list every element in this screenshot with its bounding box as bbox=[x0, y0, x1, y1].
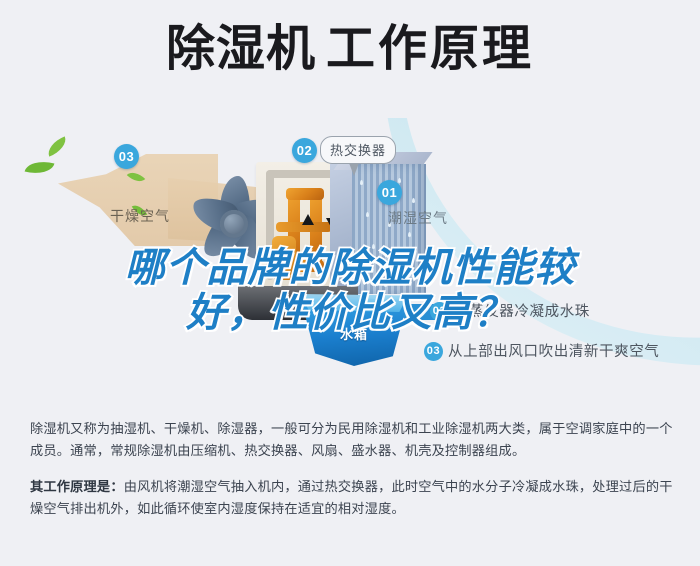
dehumidifier-diagram: 水箱 03 02 01 干燥空气 潮湿空气 热交换器 02过蒸发器冷凝成水珠 0… bbox=[0, 118, 700, 403]
note-item-02: 02过蒸发器冷凝成水珠 bbox=[430, 300, 590, 321]
body-copy: 除湿机又称为抽湿机、干燥机、除湿器，一般可分为民用除湿机和工业除湿机两大类，属于… bbox=[30, 418, 676, 520]
leaf-icon bbox=[25, 157, 55, 178]
label-humid-air: 潮湿空气 bbox=[388, 208, 448, 228]
paragraph-1: 除湿机又称为抽湿机、干燥机、除湿器，一般可分为民用除湿机和工业除湿机两大类，属于… bbox=[30, 418, 676, 462]
infographic-page: 除湿机工作原理 bbox=[0, 0, 700, 566]
note-text-02: 过蒸发器冷凝成水珠 bbox=[454, 304, 590, 320]
title-main-text: 除湿机 bbox=[166, 20, 316, 77]
fan-hub bbox=[220, 210, 248, 238]
badge-01-humid-air: 01 bbox=[377, 180, 402, 205]
paragraph-2: 其工作原理是：由风机将潮湿空气抽入机内，通过热交换器，此时空气中的水分子冷凝成水… bbox=[30, 476, 676, 520]
paragraph-2-lead: 其工作原理是： bbox=[30, 479, 124, 494]
title-sub-text: 工作原理 bbox=[326, 20, 534, 77]
water-tank-lip bbox=[300, 294, 408, 312]
paragraph-2-text: 由风机将潮湿空气抽入机内，通过热交换器，此时空气中的水分子冷凝成水珠，处理过后的… bbox=[30, 479, 673, 516]
note-badge-02: 02 bbox=[430, 302, 449, 321]
label-dry-air: 干燥空气 bbox=[110, 206, 170, 226]
arrow-up-icon bbox=[302, 214, 314, 225]
note-item-03: 03从上部出风口吹出清新干爽空气 bbox=[424, 340, 659, 361]
badge-02-heat-exchanger: 02 bbox=[292, 138, 317, 163]
callout-heat-exchanger: 热交换器 bbox=[320, 136, 396, 164]
leaf-icon bbox=[44, 136, 69, 156]
compressor-cylinder bbox=[272, 236, 296, 280]
note-text-03: 从上部出风口吹出清新干爽空气 bbox=[448, 344, 659, 360]
copper-coil bbox=[286, 188, 324, 200]
badge-03-dry-air: 03 bbox=[114, 144, 139, 169]
page-title: 除湿机工作原理 bbox=[0, 24, 700, 73]
water-tank-label: 水箱 bbox=[300, 324, 408, 343]
note-badge-03: 03 bbox=[424, 342, 443, 361]
